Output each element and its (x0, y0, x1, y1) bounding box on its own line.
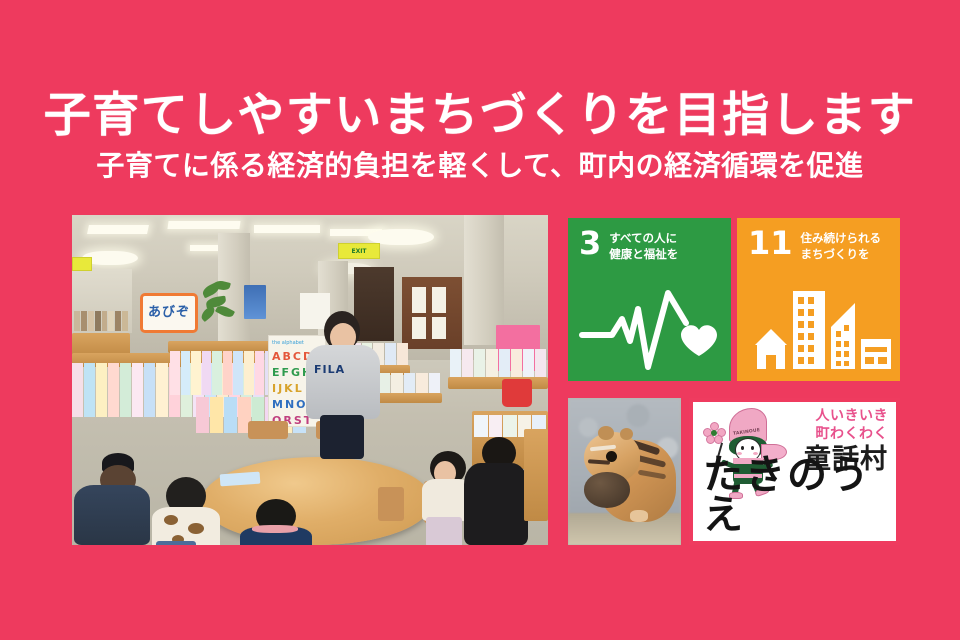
book-shelf (448, 377, 548, 389)
sdg-goal-11: 11 住み続けられる まちづくりを (737, 218, 900, 381)
child-navy (240, 499, 312, 545)
standing-staff: FILA (298, 311, 384, 451)
cow-spot (164, 515, 178, 525)
door-notice (432, 287, 446, 313)
exit-sign: EXIT (338, 243, 380, 259)
chipmunk-photo (568, 398, 681, 545)
sdg-3-label: すべての人に 健康と福祉を (609, 228, 678, 262)
red-bag (502, 379, 532, 407)
page-subtitle: 子育てに係る経済的負担を軽くして、町内の経済循環を促進 (0, 152, 960, 180)
logo-catch-line2: 町わくわく (816, 426, 889, 444)
sdg-11-label-line1: 住み続けられる (801, 231, 882, 247)
abeso-sign: あびぞ (140, 293, 198, 333)
chair (248, 421, 288, 439)
torso (74, 485, 150, 545)
chair (378, 487, 404, 521)
torso (464, 463, 528, 545)
page-title: 子育てしやすいまちづくりを目指します (0, 92, 960, 139)
sdg-11-label-line2: まちづくりを (801, 247, 882, 263)
library-photo: EXIT あびぞ (72, 215, 548, 545)
heartbeat-heart-icon (568, 283, 731, 375)
sdg-11-header: 11 住み続けられる まちづくりを (748, 228, 892, 262)
wall-poster (244, 285, 266, 319)
potted-plant (200, 281, 236, 329)
chipmunk-ear (598, 426, 614, 440)
sweatshirt-logo: FILA (314, 363, 345, 376)
door-notice (432, 317, 446, 339)
ceiling-light (167, 221, 240, 229)
book-row (450, 349, 546, 377)
pants (426, 517, 462, 545)
city-buildings-icon (737, 283, 900, 375)
door-notice (412, 287, 426, 313)
sakura-wand-flower (703, 422, 727, 446)
chipmunk-ear (620, 428, 633, 440)
chipmunk-paw (630, 510, 648, 522)
abeso-sign-label: あびぞ (148, 306, 190, 320)
nut-in-mouth (584, 472, 630, 508)
sdg-3-label-line1: すべての人に (609, 231, 678, 247)
child-cow-print (150, 477, 222, 545)
door-notice (412, 317, 426, 339)
logo-town-name: たきのうえ (703, 455, 896, 535)
sdg-11-label: 住み続けられる まちづくりを (801, 228, 882, 262)
seated-adult-right (464, 437, 530, 545)
exit-sign-label: EXIT (351, 248, 366, 255)
cow-spot (188, 523, 204, 534)
logo-catch-line1: 人いきいき (816, 408, 889, 426)
legs (320, 415, 364, 459)
logo-catchphrase: 人いきいき 町わくわく (816, 408, 889, 443)
mascot-eye (741, 446, 744, 450)
collar (252, 525, 298, 533)
exit-sign (72, 257, 92, 271)
sdg-3-header: 3 すべての人に 健康と福祉を (579, 228, 723, 262)
book-shelf (524, 429, 548, 521)
sdg-3-label-line2: 健康と福祉を (609, 247, 678, 263)
slide-root: 子育てしやすいまちづくりを目指します 子育てに係る経済的負担を軽くして、町内の経… (0, 0, 960, 640)
ceiling-light (87, 225, 149, 234)
jeans (156, 541, 196, 545)
torso (152, 507, 220, 545)
torso (306, 345, 380, 419)
ceiling-light (254, 225, 320, 233)
header-block: 子育てしやすいまちづくりを目指します 子育てに係る経済的負担を軽くして、町内の経… (0, 92, 960, 180)
sdg-11-number: 11 (748, 228, 793, 258)
seated-adult-left (74, 453, 154, 545)
sdg-3-number: 3 (579, 228, 601, 258)
sdg-goal-3: 3 すべての人に 健康と福祉を (568, 218, 731, 381)
book-row (74, 311, 128, 331)
mascot-eye (751, 446, 754, 450)
takinoue-town-logo: TAKINOUE 人いきいき 町わく (689, 398, 900, 545)
